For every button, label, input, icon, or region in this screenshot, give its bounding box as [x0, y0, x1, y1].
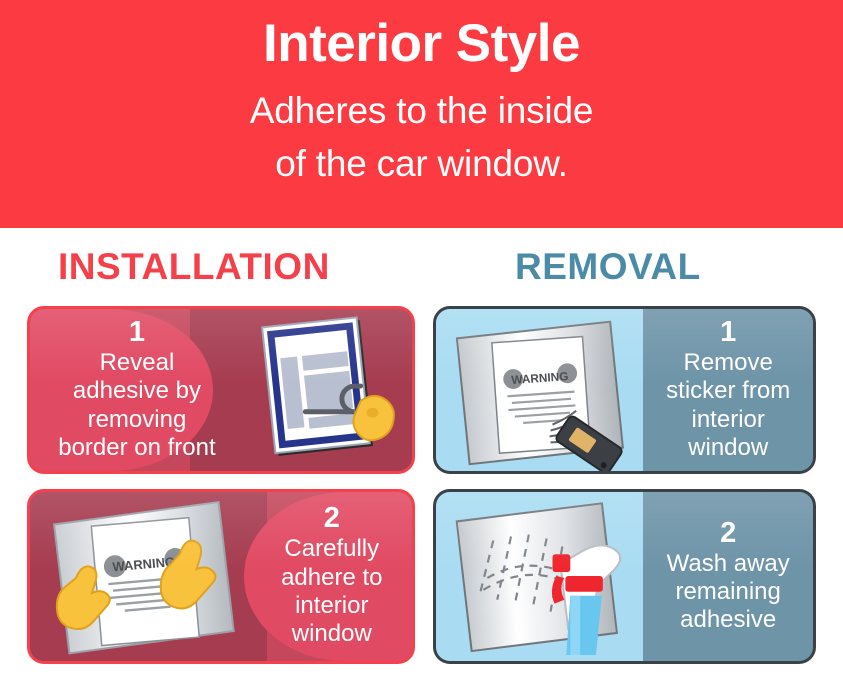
step-line: Remove	[666, 349, 790, 377]
step-description: Wash away remaining adhesive	[667, 550, 790, 635]
step-number: 1	[129, 318, 145, 347]
step-line: interior	[281, 592, 382, 620]
hand-icon	[353, 396, 393, 440]
step-line: window	[666, 434, 790, 462]
installation-step-2-text: 2 Carefully adhere to interior window	[252, 492, 412, 661]
spray-bottle-illustration	[436, 492, 643, 661]
step-line: adhesive	[667, 606, 790, 634]
installation-step-1-text: 1 Reveal adhesive by removing border on …	[30, 309, 244, 471]
step-description: Reveal adhesive by removing border on fr…	[58, 349, 215, 462]
step-line: remaining	[667, 578, 790, 606]
step-number: 2	[324, 504, 340, 533]
step-line: Carefully	[281, 535, 382, 563]
step-line: border on front	[58, 434, 215, 462]
step-description: Carefully adhere to interior window	[281, 535, 382, 648]
step-line: removing	[58, 406, 215, 434]
hands-adhere-illustration: WARNING	[30, 492, 252, 661]
step-description: Remove sticker from interior window	[666, 349, 790, 462]
step-line: Reveal	[58, 349, 215, 377]
decal-peel-illustration	[244, 309, 412, 471]
removal-step-1-text: 1 Remove sticker from interior window	[643, 309, 813, 471]
steps-grid: 1 Reveal adhesive by removing border on …	[0, 0, 843, 681]
step-line: adhesive by	[58, 377, 215, 405]
step-line: adhere to	[281, 564, 382, 592]
step-number: 1	[720, 318, 736, 347]
removal-step-1-card: WARNING	[433, 306, 816, 474]
step-line: sticker from	[666, 377, 790, 405]
step-line: interior	[666, 406, 790, 434]
step-line: window	[281, 620, 382, 648]
infographic-page: Interior Style Adheres to the inside of …	[0, 0, 843, 681]
installation-step-2-card: WARNING 2	[27, 489, 415, 664]
razor-scraper-illustration: WARNING	[436, 309, 643, 471]
removal-step-2-card: 2 Wash away remaining adhesive	[433, 489, 816, 664]
step-line: Wash away	[667, 550, 790, 578]
installation-step-1-card: 1 Reveal adhesive by removing border on …	[27, 306, 415, 474]
removal-step-2-text: 2 Wash away remaining adhesive	[643, 492, 813, 661]
step-number: 2	[720, 519, 736, 548]
